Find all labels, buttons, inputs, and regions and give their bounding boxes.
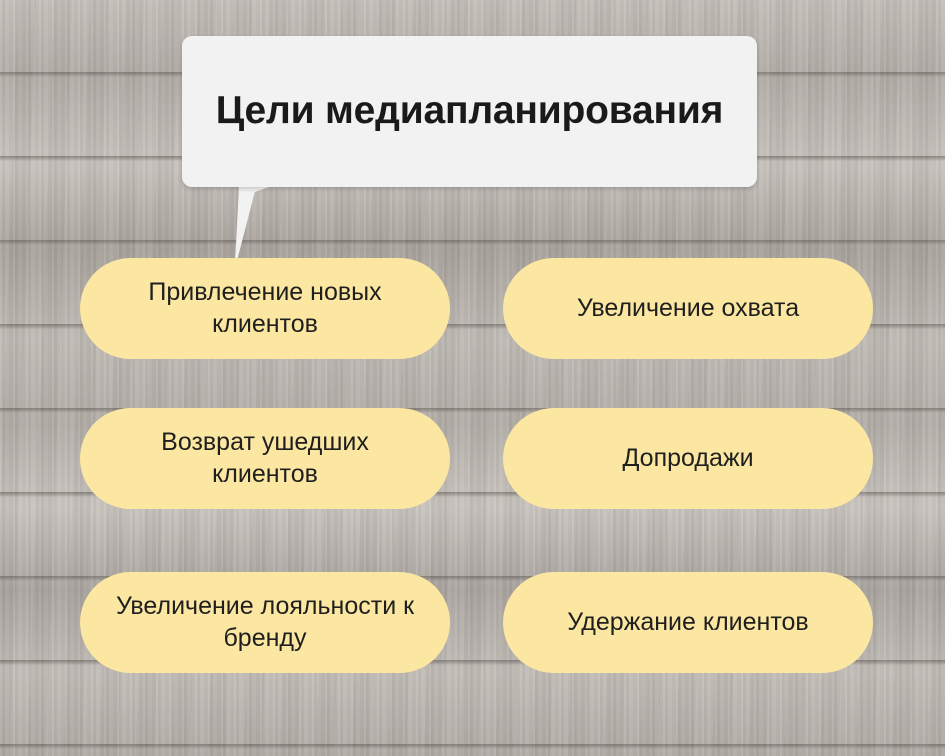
goal-pill-upsell[interactable]: Допродажи	[503, 408, 873, 509]
goal-pill-retain-clients[interactable]: Удержание клиентов	[503, 572, 873, 673]
goal-label: Допродажи	[622, 443, 753, 474]
goal-label: Возврат ушедших клиентов	[106, 427, 424, 490]
goal-label: Увеличение лояльности к бренду	[106, 591, 424, 654]
speech-bubble-tail	[235, 180, 290, 270]
page-title: Цели медиапланирования	[216, 89, 723, 134]
goal-pill-increase-brand-loyalty[interactable]: Увеличение лояльности к бренду	[80, 572, 450, 673]
goal-pill-return-lost-clients[interactable]: Возврат ушедших клиентов	[80, 408, 450, 509]
goal-label: Удержание клиентов	[567, 607, 808, 638]
goal-pill-increase-reach[interactable]: Увеличение охвата	[503, 258, 873, 359]
goal-label: Увеличение охвата	[577, 293, 799, 324]
goal-label: Привлечение новых клиентов	[106, 277, 424, 340]
title-bubble: Цели медиапланирования	[182, 36, 757, 187]
goal-pill-attract-new-clients[interactable]: Привлечение новых клиентов	[80, 258, 450, 359]
slide: Цели медиапланирования Привлечение новых…	[0, 0, 945, 756]
